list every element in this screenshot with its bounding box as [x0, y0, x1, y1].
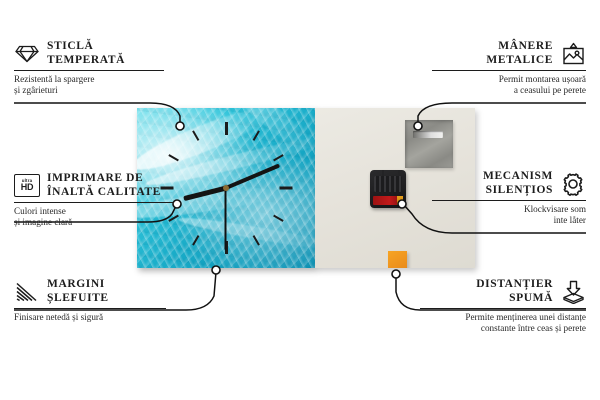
- gear-icon: [560, 172, 586, 196]
- feature-desc-line1: Rezistentă la spargere: [14, 74, 164, 85]
- feature-title-line2: ȘLEFUITE: [47, 292, 109, 306]
- divider: [432, 70, 586, 71]
- feature-title-line1: MECANISM: [483, 170, 553, 184]
- divider: [420, 308, 586, 309]
- feature-title-line2: SPUMĂ: [476, 292, 553, 306]
- divider: [14, 70, 164, 71]
- feature-title-line1: MÂNERE: [486, 40, 553, 54]
- connector-dot-edges: [212, 266, 220, 274]
- feature-desc-line1: Permite menținerea unei distanțe: [420, 312, 586, 323]
- feature-title-line1: IMPRIMARE DE: [47, 172, 161, 186]
- divider: [432, 200, 586, 201]
- feature-desc-line2: și imagine clară: [14, 217, 174, 228]
- divider: [14, 308, 166, 309]
- feature-desc-line2: și zgârieturi: [14, 85, 164, 96]
- feature-hd-print: ultra HD IMPRIMARE DE ÎNALTĂ CALITATE Cu…: [14, 172, 174, 228]
- feature-title-line2: METALICE: [486, 54, 553, 68]
- hd-icon-main-text: HD: [21, 183, 34, 192]
- wire-glass: [14, 103, 180, 124]
- divider: [14, 202, 174, 203]
- connector-dot-handles: [414, 122, 422, 130]
- picture-frame-hanging-icon: [560, 42, 586, 66]
- feature-title-line1: MARGINI: [47, 278, 109, 292]
- feature-desc-line2: constante între ceas și perete: [420, 323, 586, 334]
- feature-title-line2: TEMPERATĂ: [47, 54, 125, 68]
- feature-title-line2: ÎNALTĂ CALITATE: [47, 186, 161, 200]
- diamond-icon: [14, 42, 40, 66]
- feature-metal-handles: MÂNERE METALICE Permit montarea ușoară a…: [432, 40, 586, 96]
- connector-dot-spacer: [392, 270, 400, 278]
- feature-desc-line1: Permit montarea ușoară: [432, 74, 586, 85]
- feature-title-line1: DISTANȚIER: [476, 278, 553, 292]
- connector-dot-mech: [398, 200, 406, 208]
- feature-polished-edges: MARGINI ȘLEFUITE Finisare netedă și sigu…: [14, 278, 166, 323]
- feature-tempered-glass: STICLĂ TEMPERATĂ Rezistentă la spargere …: [14, 40, 164, 96]
- feature-silent-mechanism: MECANISM SILENȚIOS Klockvisare som inte …: [432, 170, 586, 226]
- feature-desc-line1: Finisare netedă și sigură: [14, 312, 166, 323]
- feature-title-line2: SILENȚIOS: [483, 184, 553, 198]
- ultra-hd-icon: ultra HD: [14, 174, 40, 198]
- feature-desc-line2: a ceasului pe perete: [432, 85, 586, 96]
- press-down-pad-icon: [560, 280, 586, 304]
- wire-handles: [418, 103, 586, 124]
- connector-dot-print: [173, 200, 181, 208]
- feature-title-line1: STICLĂ: [47, 40, 125, 54]
- feature-desc-line1: Klockvisare som: [432, 204, 586, 215]
- feature-desc-line1: Culori intense: [14, 206, 174, 217]
- polished-edge-icon: [14, 280, 40, 304]
- feature-desc-line2: inte låter: [432, 215, 586, 226]
- feature-foam-spacer: DISTANȚIER SPUMĂ Permite menținerea unei…: [420, 278, 586, 334]
- connector-dot-glass: [176, 122, 184, 130]
- infographic-canvas: STICLĂ TEMPERATĂ Rezistentă la spargere …: [0, 0, 600, 400]
